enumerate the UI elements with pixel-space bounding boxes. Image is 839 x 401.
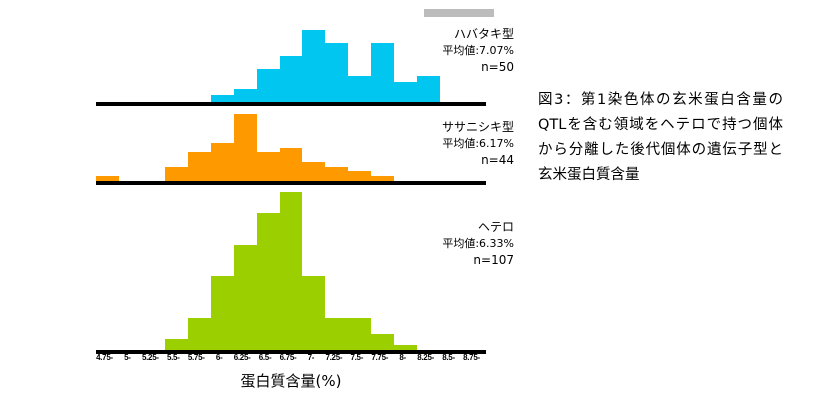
- bar: [188, 152, 211, 181]
- bar: [325, 318, 348, 350]
- baseline-habataki: [96, 102, 486, 106]
- legend-habataki-count: n=50: [398, 59, 514, 76]
- legend-habataki: ハバタキ型 平均値:7.07% n=50: [398, 26, 514, 76]
- x-tick-10: 7.25-: [322, 352, 345, 368]
- bar: [234, 245, 257, 350]
- x-tick-9: 7-: [299, 352, 322, 368]
- histogram-panel-hetero: [96, 190, 486, 354]
- bar: [348, 318, 371, 350]
- x-tick-2: 5.25-: [139, 352, 162, 368]
- x-tick-4: 5.75-: [185, 352, 208, 368]
- bar: [348, 171, 371, 181]
- bar: [302, 30, 325, 102]
- figure-caption: 図3：第1染色体の玄米蛋白含量のQTLを含む領域をヘテロで持つ個体から分離した後…: [538, 88, 783, 188]
- bar: [348, 76, 371, 102]
- bar: [211, 276, 234, 350]
- legend-sasanishiki-name: ササニシキ型: [398, 119, 514, 136]
- x-tick-16: 8.75-: [460, 352, 483, 368]
- bar: [302, 162, 325, 181]
- bar: [211, 143, 234, 181]
- bar: [234, 89, 257, 102]
- bar: [417, 76, 440, 102]
- bar: [257, 213, 280, 350]
- x-tick-11: 7.5-: [345, 352, 368, 368]
- x-tick-0: 4.75-: [93, 352, 116, 368]
- legend-habataki-name: ハバタキ型: [398, 26, 514, 43]
- bar: [234, 114, 257, 181]
- x-tick-5: 6-: [208, 352, 231, 368]
- x-axis-title: 蛋白質含量(%): [96, 370, 486, 391]
- legend-sasanishiki: ササニシキ型 平均値:6.17% n=44: [398, 119, 514, 169]
- bar: [165, 167, 188, 181]
- legend-hetero: ヘテロ 平均値:6.33% n=107: [398, 219, 514, 269]
- x-tick-13: 8-: [391, 352, 414, 368]
- bar: [371, 334, 394, 350]
- legend-hetero-count: n=107: [398, 252, 514, 269]
- bar: [280, 192, 303, 350]
- bar: [280, 148, 303, 182]
- x-tick-3: 5.5-: [162, 352, 185, 368]
- bar: [257, 69, 280, 102]
- bar: [325, 43, 348, 102]
- x-tick-1: 5-: [116, 352, 139, 368]
- bar: [257, 152, 280, 181]
- bar: [280, 56, 303, 102]
- bar: [325, 167, 348, 181]
- bars-hetero: [96, 192, 486, 350]
- x-tick-12: 7.75-: [368, 352, 391, 368]
- x-tick-7: 6.5-: [254, 352, 277, 368]
- legend-sasanishiki-count: n=44: [398, 152, 514, 169]
- x-tick-15: 8.5-: [437, 352, 460, 368]
- legend-hetero-name: ヘテロ: [398, 219, 514, 236]
- bar: [394, 82, 417, 102]
- bar: [371, 43, 394, 102]
- figure-root: 4.75-5-5.25-5.5-5.75-6-6.25-6.5-6.75-7-7…: [0, 0, 839, 401]
- x-axis-ticks: 4.75-5-5.25-5.5-5.75-6-6.25-6.5-6.75-7-7…: [96, 352, 486, 368]
- x-tick-6: 6.25-: [231, 352, 254, 368]
- bar: [302, 276, 325, 350]
- bar: [188, 318, 211, 350]
- legend-habataki-mean: 平均値:7.07%: [398, 43, 514, 59]
- x-tick-8: 6.75-: [277, 352, 300, 368]
- legend-sasanishiki-mean: 平均値:6.17%: [398, 136, 514, 152]
- baseline-sasanishiki: [96, 181, 486, 185]
- legend-hetero-mean: 平均値:6.33%: [398, 236, 514, 252]
- x-tick-14: 8.25-: [414, 352, 437, 368]
- bar: [165, 339, 188, 350]
